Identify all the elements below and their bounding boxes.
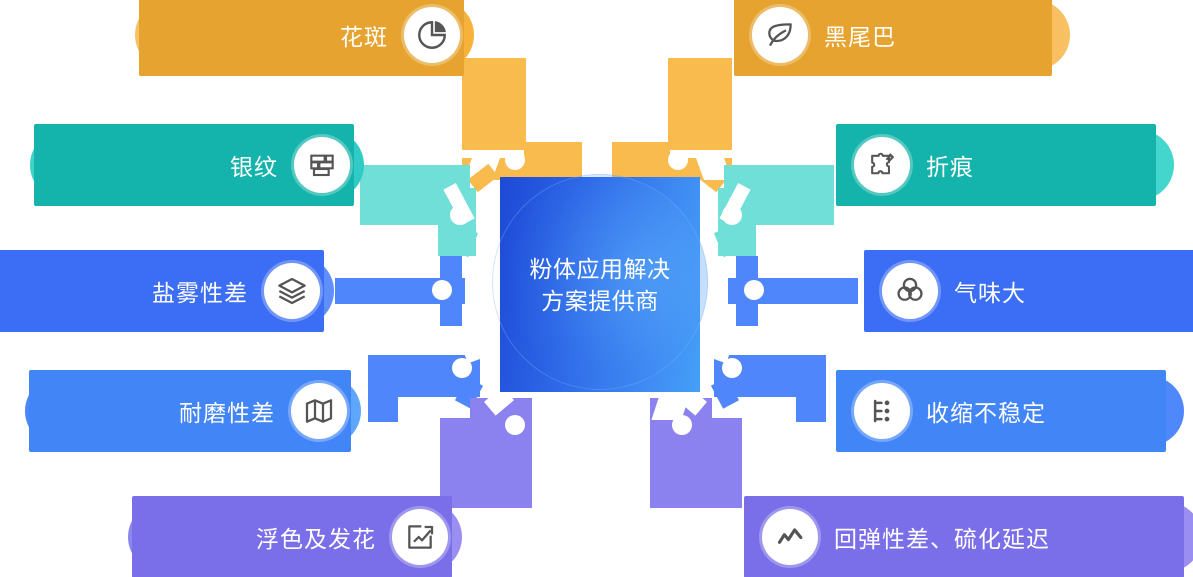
leaf-icon <box>752 7 808 63</box>
node-label: 花斑 <box>340 18 388 52</box>
node-shousuo[interactable]: 收缩不稳定 <box>840 376 1184 446</box>
connector-dot <box>505 150 525 170</box>
connector-dot <box>722 205 742 225</box>
node-naimo[interactable]: 耐磨性差 <box>25 376 361 446</box>
node-label: 银纹 <box>230 148 278 182</box>
trending-up-box-icon <box>392 509 448 565</box>
node-label: 浮色及发花 <box>256 520 376 554</box>
node-yinwen[interactable]: 银纹 <box>30 130 364 200</box>
hub-title-line2: 方案提供商 <box>541 285 659 317</box>
node-fuse[interactable]: 浮色及发花 <box>128 502 462 572</box>
pie-chart-icon <box>404 7 460 63</box>
connector-dot <box>744 280 764 300</box>
map-icon <box>291 383 347 439</box>
node-qiwei[interactable]: 气味大 <box>868 256 1193 326</box>
puzzle-icon <box>854 137 910 193</box>
connector-dot <box>668 150 688 170</box>
hub-title: 粉体应用解决 方案提供商 <box>500 177 700 392</box>
node-zhehen[interactable]: 折痕 <box>840 130 1174 200</box>
node-label: 收缩不稳定 <box>926 394 1046 428</box>
line-chart-icon <box>762 509 818 565</box>
center-hub: 粉体应用解决 方案提供商 <box>500 177 700 392</box>
node-label: 折痕 <box>926 148 974 182</box>
node-label: 耐磨性差 <box>179 394 275 428</box>
connector-dot <box>672 415 692 435</box>
node-huaban[interactable]: 花斑 <box>135 0 474 70</box>
connector-dot <box>450 205 470 225</box>
connector-dot <box>452 358 472 378</box>
connector-dot <box>722 358 742 378</box>
node-huitan[interactable]: 回弹性差、硫化延迟 <box>748 502 1193 572</box>
node-label: 盐雾性差 <box>152 274 248 308</box>
node-label: 气味大 <box>954 274 1026 308</box>
layers-icon <box>264 263 320 319</box>
node-label: 黑尾巴 <box>824 18 896 52</box>
recycle-icon <box>882 263 938 319</box>
infographic-canvas: 粉体应用解决 方案提供商 花斑 银纹 <box>0 0 1193 577</box>
brick-wall-icon <box>294 137 350 193</box>
node-label: 回弹性差、硫化延迟 <box>834 520 1050 554</box>
node-heiweiba[interactable]: 黑尾巴 <box>738 0 1070 70</box>
sitemap-icon <box>854 383 910 439</box>
node-yanwu[interactable]: 盐雾性差 <box>0 256 334 326</box>
connector-dot <box>432 280 452 300</box>
connector-dot <box>505 415 525 435</box>
hub-title-line1: 粉体应用解决 <box>530 253 671 285</box>
